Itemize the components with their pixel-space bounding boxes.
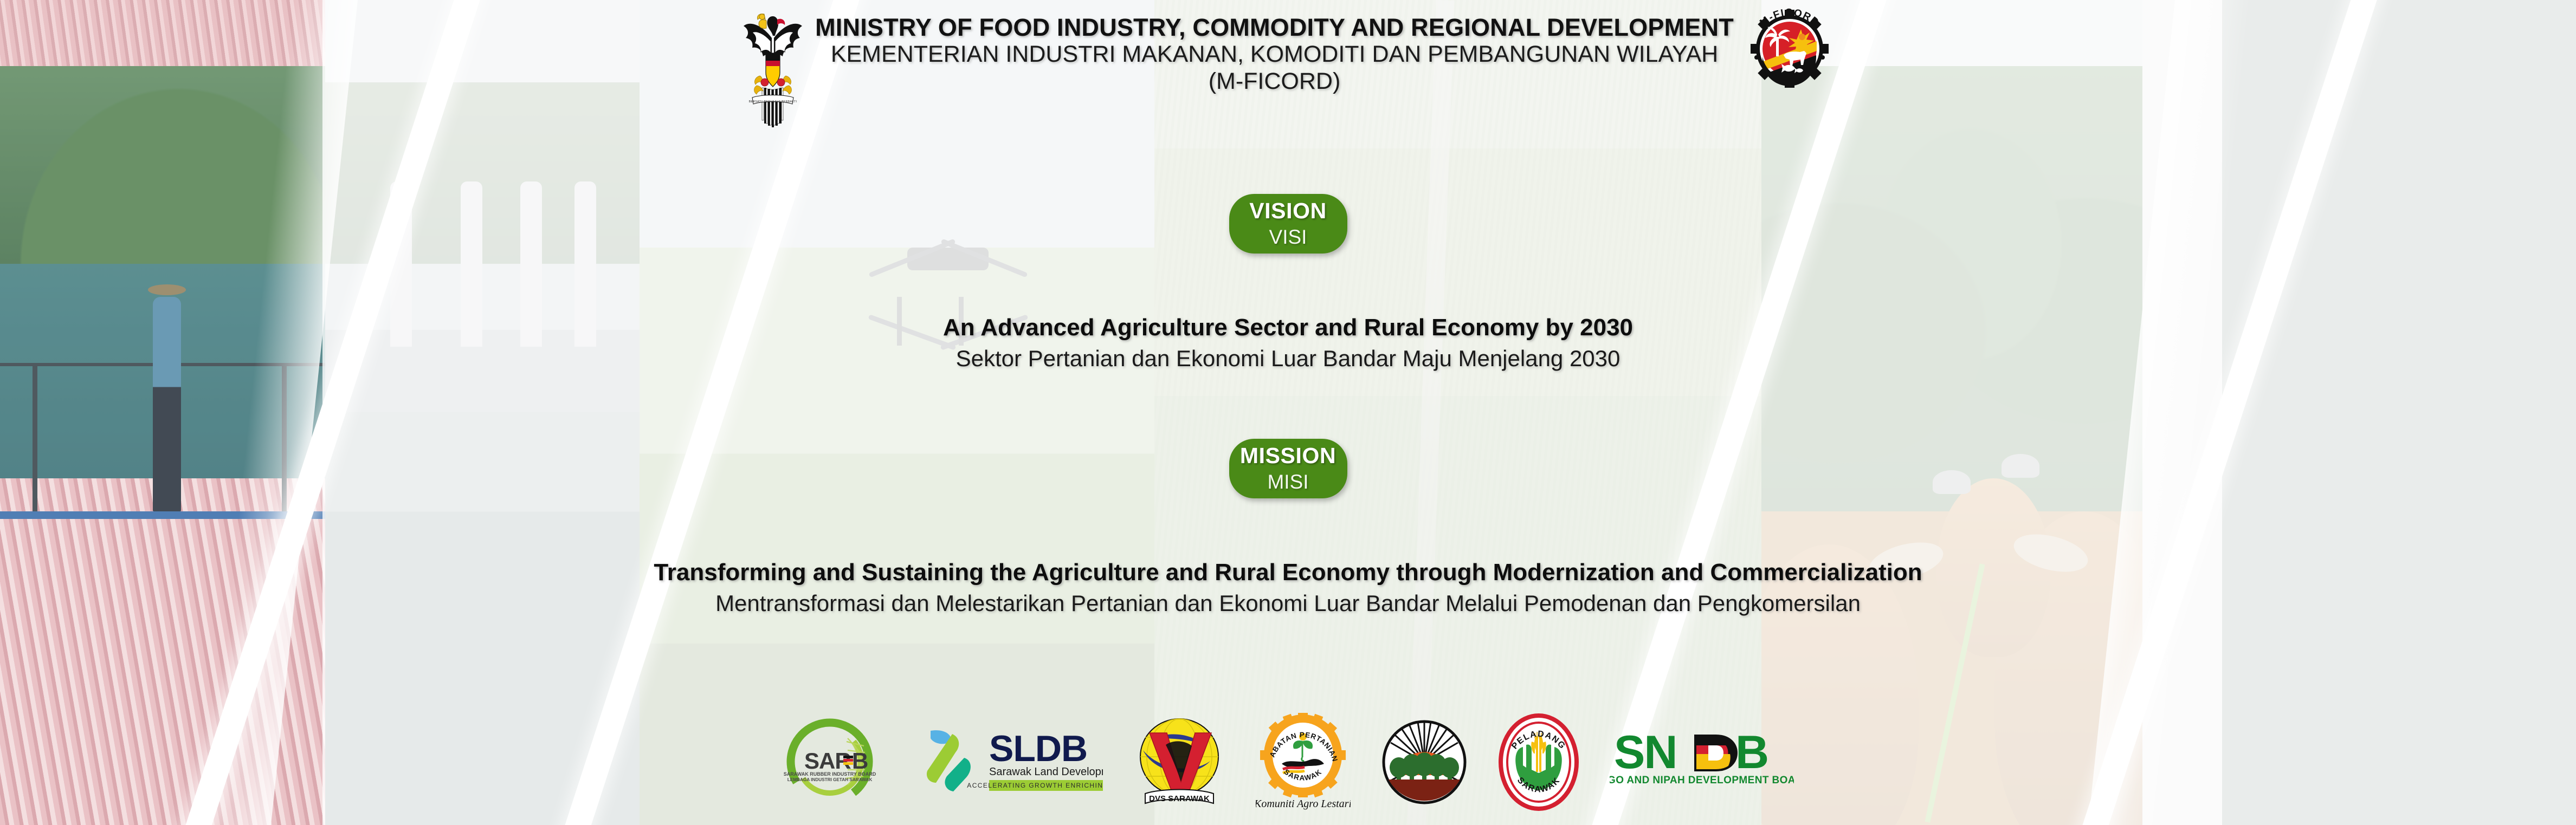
agency-logo-jabatan-pertanian-sarawak: JABATAN PERTANIAN SARAWAK Komuniti Agro …	[1256, 712, 1351, 812]
peladang-name-my: PELADANG SARAWAK	[1498, 713, 1579, 716]
mission-statement-my: Mentransformasi dan Melestarikan Pertani…	[0, 589, 2576, 618]
mission-statement: Transforming and Sustaining the Agricult…	[0, 558, 2576, 618]
svg-text:BERSATU BERUSAHA BERBAKTI: BERSATU BERUSAHA BERBAKTI	[749, 100, 797, 103]
jabatan-pertanian-name-my: JABATAN PERTANIAN SARAWAK	[1256, 712, 1351, 714]
sarib-name-my: LEMBAGA INDUSTRI GETAH SARAWAK	[787, 777, 872, 782]
ministry-abbreviation: (M-FICORD)	[815, 68, 1734, 96]
ministry-banner: BERSATU BERUSAHA BERBAKTI MINISTRY OF FO…	[0, 0, 2576, 825]
mission-badge-label-my: MISI	[1267, 472, 1308, 493]
svg-text:B: B	[852, 748, 868, 774]
mission-badge-label-en: MISSION	[1240, 444, 1336, 467]
vision-badge: VISION VISI	[1229, 194, 1347, 254]
dvs-name-en: DVS SARAWAK	[1149, 794, 1210, 803]
vision-badge-label-en: VISION	[1249, 199, 1327, 223]
sldb-name-en: Sarawak Land Development Board	[989, 766, 1103, 778]
agency-logo-sarib: SAR B SARAWAK RUBBER INDUSTRY BOARD LEMB…	[783, 712, 877, 812]
agency-logo-sldb: SLDB Sarawak Land Development Board ACCE…	[908, 712, 1103, 812]
agency-logo-strip: SAR B SARAWAK RUBBER INDUSTRY BOARD LEMB…	[0, 706, 2576, 817]
jabatan-pertanian-tagline: Komuniti Agro Lestari	[1256, 798, 1351, 810]
banner-content: BERSATU BERUSAHA BERBAKTI MINISTRY OF FO…	[0, 0, 2576, 825]
agency-logo-peladang-sarawak: PELADANG SARAWAK PELADANG SARAWAK	[1498, 712, 1579, 812]
vision-statement-my: Sektor Pertanian dan Ekonomi Luar Bandar…	[0, 345, 2576, 373]
ministry-title-my: KEMENTERIAN INDUSTRI MAKANAN, KOMODITI D…	[815, 41, 1734, 68]
sarib-name-en: SARAWAK RUBBER INDUSTRY BOARD	[783, 771, 876, 777]
svg-text:B: B	[1735, 727, 1769, 778]
ministry-title-en: MINISTRY OF FOOD INDUSTRY, COMMODITY AND…	[815, 14, 1734, 41]
agency-logo-sndb: SN B SAGO AND NIPAH DEVELOPMENT BOARD SN…	[1610, 712, 1794, 812]
m-ficord-logo-icon: M-FICORD	[1744, 5, 1836, 92]
sndb-name-en: SAGO AND NIPAH DEVELOPMENT BOARD	[1610, 775, 1794, 786]
vision-badge-label-my: VISI	[1269, 227, 1307, 248]
banner-header: BERSATU BERUSAHA BERBAKTI MINISTRY OF FO…	[0, 4, 2576, 140]
sldb-tagline: ACCELERATING GROWTH ENRICHING LIFE	[967, 782, 1103, 789]
mission-badge: MISSION MISI	[1229, 439, 1347, 498]
mission-statement-en: Transforming and Sustaining the Agricult…	[0, 558, 2576, 587]
ministry-title-block: MINISTRY OF FOOD INDUSTRY, COMMODITY AND…	[815, 4, 1734, 96]
vision-statement: An Advanced Agriculture Sector and Rural…	[0, 313, 2576, 373]
agency-logo-dvs-sarawak: DVS SARAWAK	[1133, 712, 1225, 812]
sldb-acronym: SLDB	[989, 728, 1087, 769]
vision-statement-en: An Advanced Agriculture Sector and Rural…	[0, 313, 2576, 342]
sndb-acronym: SNDB	[1610, 727, 1634, 729]
svg-text:SN: SN	[1614, 727, 1676, 778]
sarawak-coat-of-arms-icon: BERSATU BERUSAHA BERBAKTI	[740, 7, 805, 131]
agency-logo-forest-sunrise	[1381, 712, 1468, 812]
